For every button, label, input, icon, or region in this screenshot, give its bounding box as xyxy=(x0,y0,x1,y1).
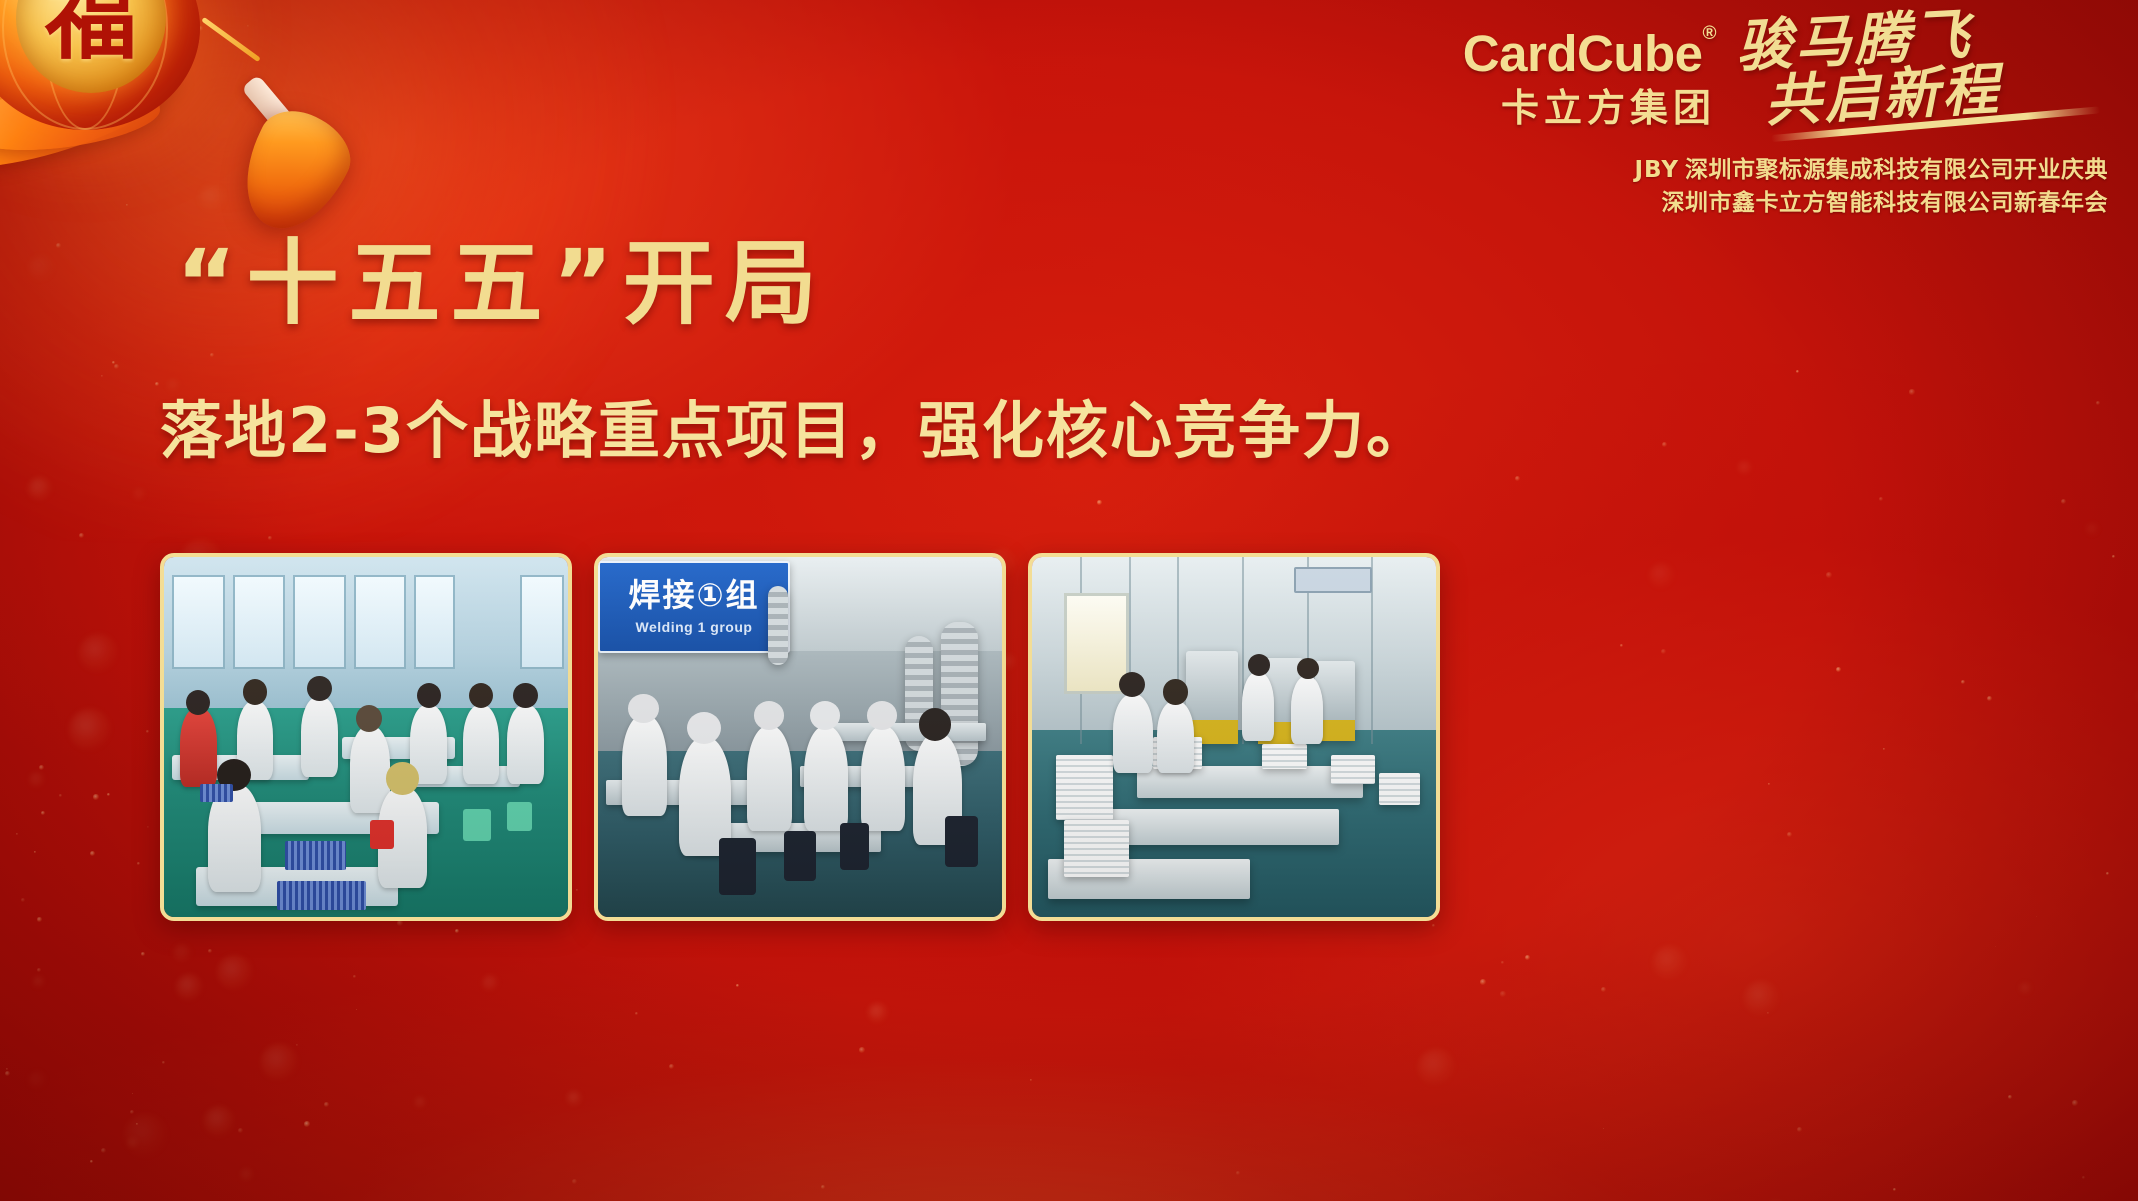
photo-warehouse-packing xyxy=(1028,553,1440,921)
page-title: “十五五”开局 xyxy=(176,238,827,330)
tassel-string xyxy=(201,17,261,62)
logo-row: CardCube® 卡立方集团 骏马腾飞 共启新程 xyxy=(1208,22,2108,138)
event-line-2-text: 深圳市鑫卡立方智能科技有限公司新春年会 xyxy=(1662,190,2109,216)
event-lines: JBY深圳市聚标源集成科技有限公司开业庆典 深圳市鑫卡立方智能科技有限公司新春年… xyxy=(1208,154,2108,219)
tassel-cone xyxy=(225,98,363,246)
photo-3-scene xyxy=(1032,557,1436,917)
brand-name-cn: 卡立方集团 xyxy=(1463,88,1716,130)
photo-2-shade xyxy=(598,557,1002,917)
event-line-1: JBY深圳市聚标源集成科技有限公司开业庆典 xyxy=(1208,154,2108,187)
event-line-1-prefix: JBY xyxy=(1635,157,1680,183)
photo-strip: 焊接①组 Welding 1 group xyxy=(160,553,1440,921)
photo-2-scene: 焊接①组 Welding 1 group xyxy=(598,557,1002,917)
event-line-2: 深圳市鑫卡立方智能科技有限公司新春年会 xyxy=(1208,187,2108,220)
brand-lockup: CardCube® 卡立方集团 xyxy=(1463,22,1716,130)
header-logo-block: CardCube® 卡立方集团 骏马腾飞 共启新程 JBY深圳市聚标源集成科技有… xyxy=(1208,22,2108,219)
brand-name-en-text: CardCube xyxy=(1463,25,1703,82)
event-line-1-text: 深圳市聚标源集成科技有限公司开业庆典 xyxy=(1685,157,2108,183)
brand-slogan: 骏马腾飞 共启新程 xyxy=(1735,3,2111,138)
photo-soldering-group: 焊接①组 Welding 1 group xyxy=(594,553,1006,921)
photo-1-shade xyxy=(164,557,568,917)
fu-character: 福 xyxy=(45,0,137,64)
lantern-body: 福 xyxy=(0,0,200,130)
photo-assembly-line xyxy=(160,553,572,921)
brand-name-en: CardCube® xyxy=(1463,28,1716,79)
page-subtitle: 落地2-3个战略重点项目，强化核心竞争力。 xyxy=(160,400,1430,462)
photo-3-shade xyxy=(1032,557,1436,917)
registered-mark-icon: ® xyxy=(1703,23,1717,44)
photo-1-scene xyxy=(164,557,568,917)
